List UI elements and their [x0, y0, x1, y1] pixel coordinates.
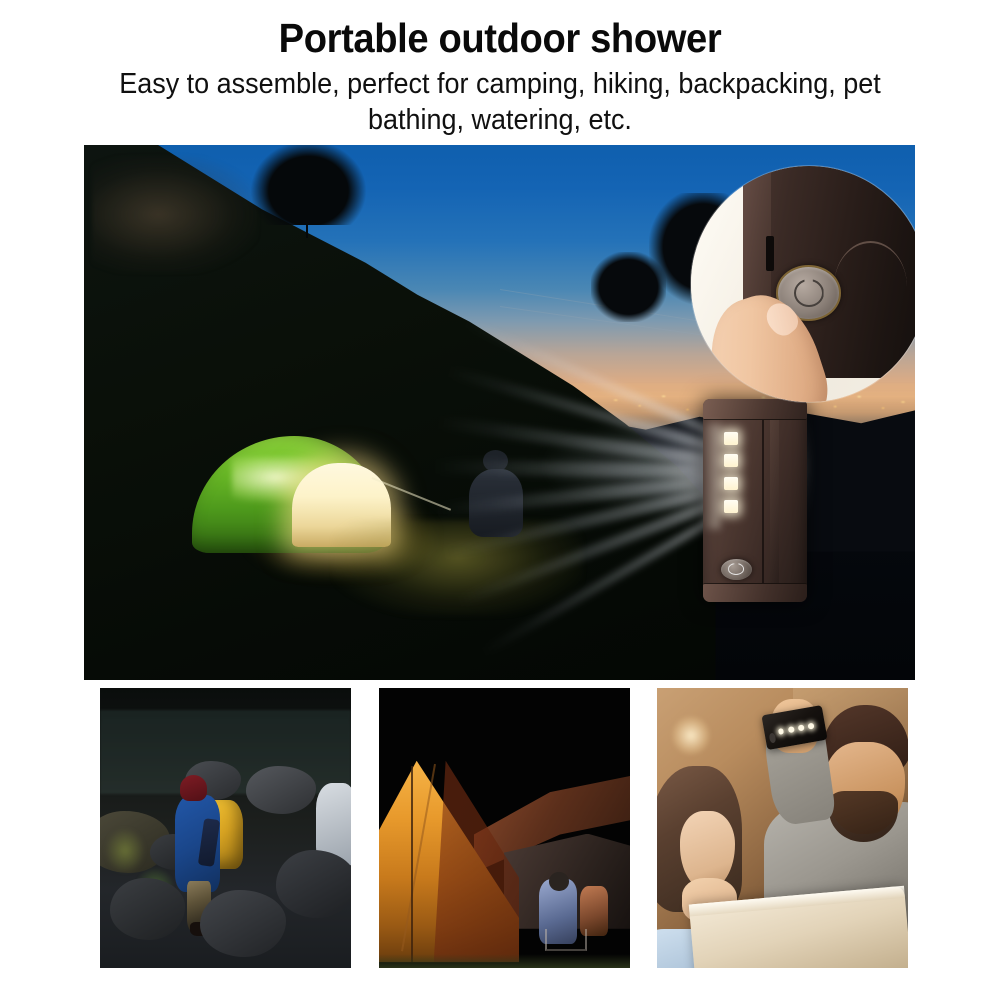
thumbnail-row: [100, 688, 908, 968]
header: Portable outdoor shower Easy to assemble…: [0, 0, 1000, 138]
tree-silhouette-left: [250, 145, 366, 225]
grass-foreground: [379, 954, 630, 968]
lamp-edge-glow: [697, 424, 720, 530]
power-button[interactable]: [768, 733, 776, 744]
lamp-led-row: [778, 723, 815, 735]
moss-patch: [105, 828, 145, 873]
led-indicator: [808, 723, 815, 730]
thumb-hiking-rocks: [100, 688, 351, 968]
lamp-seam-line: [762, 407, 764, 594]
led-indicator: [778, 728, 785, 735]
inset-lamp-notch: [766, 236, 775, 270]
led-indicator: [724, 432, 739, 445]
lamp-bottom-cap: [703, 583, 807, 602]
tree-silhouette-mid: [591, 252, 666, 322]
rock: [276, 850, 351, 917]
lit-grass-patch: [333, 520, 582, 616]
power-icon: [728, 563, 744, 575]
bokeh-light: [672, 716, 710, 755]
page-subtitle: Easy to assemble, perfect for camping, h…: [91, 66, 909, 138]
led-indicator: [724, 477, 739, 490]
portable-led-lamp: [703, 399, 807, 602]
thumb-reading-lamp: [657, 688, 908, 968]
power-button-closeup-inset: [691, 166, 915, 401]
led-indicator: [798, 725, 805, 732]
thumb-teepee-tent: [379, 688, 630, 968]
page-title: Portable outdoor shower: [35, 0, 965, 62]
led-indicator: [724, 454, 739, 467]
lamp-side-panel: [770, 407, 779, 594]
camper-body: [469, 469, 524, 537]
led-indicator: [724, 500, 739, 513]
lamp-top-cap: [703, 399, 807, 420]
product-infographic-page: Portable outdoor shower Easy to assemble…: [0, 0, 1000, 1000]
red-beanie: [180, 775, 207, 802]
camper-one-head: [549, 872, 569, 890]
power-button[interactable]: [721, 559, 752, 580]
rock: [246, 766, 316, 814]
camp-chair: [545, 929, 587, 951]
hero-photo: [84, 145, 915, 680]
led-indicator: [788, 726, 795, 733]
teepee-pole: [411, 766, 413, 962]
inset-lamp-arc: [834, 241, 908, 287]
power-icon: [794, 279, 824, 307]
rock: [200, 890, 285, 957]
camper-person: [466, 450, 524, 536]
seated-campers: [539, 867, 609, 951]
rock-outcrop: [92, 156, 258, 274]
lamp-led-strip: [724, 432, 739, 513]
